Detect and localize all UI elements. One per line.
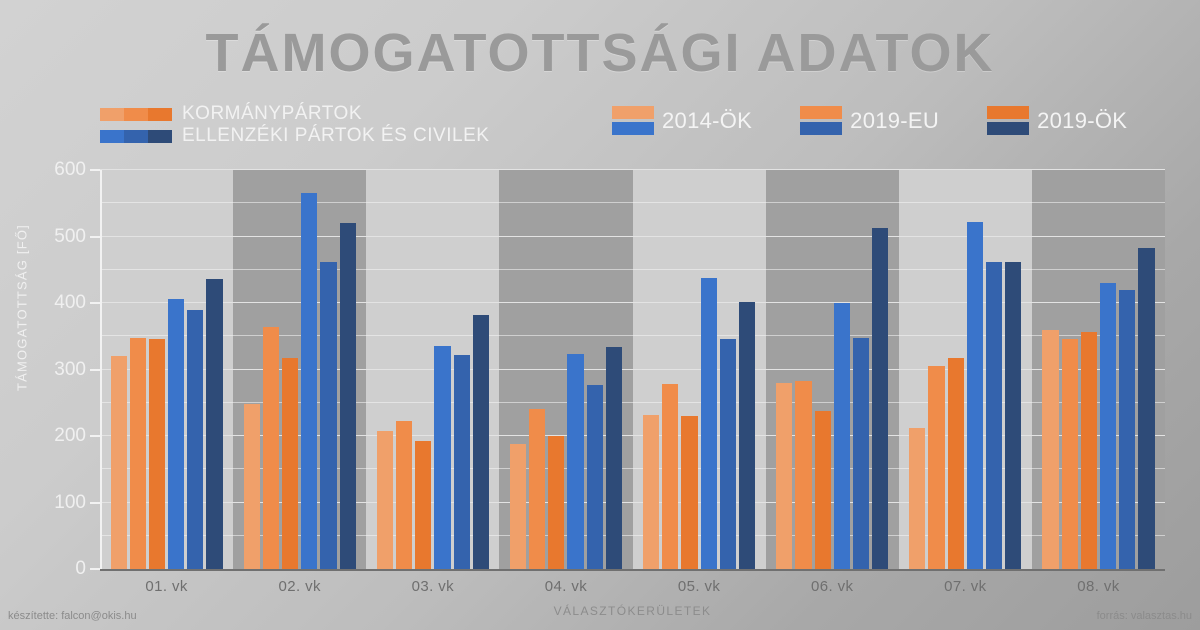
legend-swatch-2019-ok	[987, 106, 1029, 135]
bar-04-1[interactable]	[510, 444, 526, 569]
bar-04-3[interactable]	[548, 436, 564, 569]
bar-group-04	[499, 170, 632, 569]
bar-group-03	[366, 170, 499, 569]
bar-03-1[interactable]	[377, 431, 393, 569]
legend-row-ellenzek: ELLENZÉKI PÁRTOK ÉS CIVILEK	[100, 126, 489, 146]
plot-area	[100, 170, 1165, 569]
bar-02-5[interactable]	[320, 262, 336, 569]
bar-03-4[interactable]	[434, 346, 450, 569]
bar-02-6[interactable]	[340, 223, 356, 569]
bar-04-6[interactable]	[606, 347, 622, 569]
legend-elections: 2014-ÖK 2019-EU 2019-ÖK	[612, 106, 1127, 135]
bar-04-2[interactable]	[529, 409, 545, 569]
swatch-orange-mid	[124, 108, 148, 121]
x-axis-line	[100, 569, 1165, 571]
swatch-2014-ok-blue	[612, 122, 654, 135]
swatch-2019-eu-blue	[800, 122, 842, 135]
y-tick-mark-200	[90, 435, 100, 437]
y-tick-label-200: 200	[0, 425, 86, 447]
legend-label-2019-eu: 2019-EU	[850, 108, 939, 134]
bar-06-3[interactable]	[815, 411, 831, 569]
bar-group-05	[633, 170, 766, 569]
y-axis-line	[100, 170, 102, 569]
legend-swatch-kormanypartok	[100, 108, 172, 121]
bar-08-1[interactable]	[1042, 330, 1058, 569]
swatch-orange-dark	[148, 108, 172, 121]
legend-item-2014-ok: 2014-ÖK	[612, 106, 752, 135]
bar-group-06	[766, 170, 899, 569]
y-tick-mark-500	[90, 236, 100, 238]
bar-06-4[interactable]	[834, 303, 850, 569]
y-tick-mark-300	[90, 369, 100, 371]
bar-group-02	[233, 170, 366, 569]
legend-label-2014-ok: 2014-ÖK	[662, 108, 752, 134]
bar-08-2[interactable]	[1062, 339, 1078, 569]
bar-group-08	[1032, 170, 1165, 569]
y-tick-mark-100	[90, 502, 100, 504]
bar-03-2[interactable]	[396, 421, 412, 569]
y-tick-label-100: 100	[0, 492, 86, 514]
footer-author: készítette: falcon@okis.hu	[8, 610, 137, 622]
swatch-blue-dark	[148, 130, 172, 143]
bar-group-07	[899, 170, 1032, 569]
bar-05-2[interactable]	[662, 384, 678, 569]
bar-08-6[interactable]	[1138, 248, 1154, 569]
legend-label-kormanypartok: KORMÁNYPÁRTOK	[182, 104, 362, 124]
bar-06-5[interactable]	[853, 338, 869, 569]
bar-01-5[interactable]	[187, 310, 203, 569]
y-tick-mark-0	[90, 568, 100, 570]
bar-group-01	[100, 170, 233, 569]
swatch-blue-light	[100, 130, 124, 143]
x-tick-label-07: 07. vk	[899, 578, 1032, 595]
bar-groups	[100, 170, 1165, 569]
bar-05-5[interactable]	[720, 339, 736, 569]
bar-01-1[interactable]	[111, 356, 127, 569]
bar-08-3[interactable]	[1081, 332, 1097, 569]
bar-07-1[interactable]	[909, 428, 925, 569]
swatch-blue-mid	[124, 130, 148, 143]
legend-swatch-2019-eu	[800, 106, 842, 135]
y-tick-label-400: 400	[0, 292, 86, 314]
bar-04-5[interactable]	[587, 385, 603, 569]
x-tick-label-06: 06. vk	[766, 578, 899, 595]
bar-01-4[interactable]	[168, 299, 184, 569]
swatch-2019-eu-orange	[800, 106, 842, 119]
legend-item-2019-ok: 2019-ÖK	[987, 106, 1127, 135]
bar-05-4[interactable]	[701, 278, 717, 569]
bar-08-5[interactable]	[1119, 290, 1135, 569]
y-axis-title: TÁMOGATOTTSÁG [FŐ]	[15, 28, 30, 588]
bar-04-4[interactable]	[567, 354, 583, 569]
chart-page: TÁMOGATOTTSÁGI ADATOK KORMÁNYPÁRTOK ELLE…	[0, 0, 1200, 630]
bar-02-1[interactable]	[244, 404, 260, 569]
bar-01-3[interactable]	[149, 339, 165, 569]
y-tick-mark-600	[90, 169, 100, 171]
bar-02-3[interactable]	[282, 358, 298, 569]
bar-01-6[interactable]	[206, 279, 222, 569]
swatch-2019-ok-blue	[987, 122, 1029, 135]
bar-07-3[interactable]	[948, 358, 964, 569]
bar-07-4[interactable]	[967, 222, 983, 569]
legend-label-2019-ok: 2019-ÖK	[1037, 108, 1127, 134]
x-axis-labels: 01. vk02. vk03. vk04. vk05. vk06. vk07. …	[100, 578, 1165, 595]
legend-row-kormanypartok: KORMÁNYPÁRTOK	[100, 104, 489, 124]
bar-03-3[interactable]	[415, 441, 431, 569]
bar-05-6[interactable]	[739, 302, 755, 569]
x-axis-title: VÁLASZTÓKERÜLETEK	[100, 604, 1165, 618]
y-tick-label-500: 500	[0, 226, 86, 248]
y-tick-label-600: 600	[0, 159, 86, 181]
x-tick-label-04: 04. vk	[499, 578, 632, 595]
bar-06-1[interactable]	[776, 383, 792, 569]
footer-source: forrás: valasztas.hu	[1097, 610, 1192, 622]
bar-03-6[interactable]	[473, 315, 489, 569]
bar-07-5[interactable]	[986, 262, 1002, 569]
x-tick-label-01: 01. vk	[100, 578, 233, 595]
legend-coalition-groups: KORMÁNYPÁRTOK ELLENZÉKI PÁRTOK ÉS CIVILE…	[100, 104, 489, 148]
swatch-2014-ok-orange	[612, 106, 654, 119]
legend-label-ellenzek: ELLENZÉKI PÁRTOK ÉS CIVILEK	[182, 126, 489, 146]
legend-item-2019-eu: 2019-EU	[800, 106, 939, 135]
x-tick-label-02: 02. vk	[233, 578, 366, 595]
bar-05-3[interactable]	[681, 416, 697, 569]
bar-08-4[interactable]	[1100, 283, 1116, 569]
bar-07-2[interactable]	[928, 366, 944, 569]
y-tick-label-300: 300	[0, 359, 86, 381]
bar-02-2[interactable]	[263, 327, 279, 569]
legend-swatch-ellenzek	[100, 130, 172, 143]
x-tick-label-05: 05. vk	[633, 578, 766, 595]
x-tick-label-03: 03. vk	[366, 578, 499, 595]
swatch-orange-light	[100, 108, 124, 121]
bar-07-6[interactable]	[1005, 262, 1021, 569]
page-title: TÁMOGATOTTSÁGI ADATOK	[0, 22, 1200, 84]
y-tick-mark-400	[90, 302, 100, 304]
bar-01-2[interactable]	[130, 338, 146, 569]
bar-05-1[interactable]	[643, 415, 659, 569]
bar-03-5[interactable]	[454, 355, 470, 569]
bar-02-4[interactable]	[301, 193, 317, 569]
legend-swatch-2014-ok	[612, 106, 654, 135]
y-tick-label-0: 0	[0, 558, 86, 580]
bar-06-6[interactable]	[872, 228, 888, 569]
x-tick-label-08: 08. vk	[1032, 578, 1165, 595]
bar-06-2[interactable]	[795, 381, 811, 569]
swatch-2019-ok-orange	[987, 106, 1029, 119]
